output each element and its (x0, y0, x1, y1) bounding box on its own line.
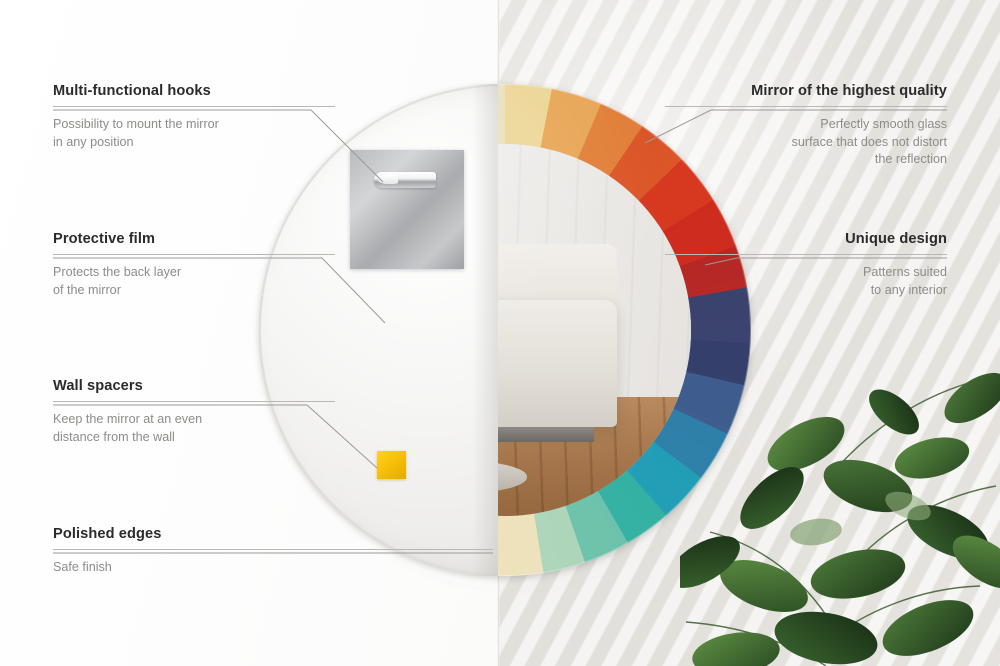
mirror-back-plate (259, 84, 498, 576)
callout-title: Protective film (53, 231, 335, 247)
callout-title: Polished edges (53, 526, 493, 542)
callout-description: Patterns suited to any interior (665, 264, 947, 299)
callout-title: Wall spacers (53, 378, 335, 394)
callout-description: Safe finish (53, 559, 493, 577)
callout-mirror-highest-quality: Mirror of the highest quality Perfectly … (665, 83, 947, 169)
callout-unique-design: Unique design Patterns suited to any int… (665, 231, 947, 299)
callout-rule (53, 549, 493, 550)
callout-title: Mirror of the highest quality (665, 83, 947, 99)
mounting-hook-plate (350, 150, 464, 269)
decorative-foliage (680, 336, 1000, 666)
callout-description: Possibility to mount the mirror in any p… (53, 116, 335, 151)
hook-bracket-icon (374, 172, 436, 188)
callout-multi-functional-hooks: Multi-functional hooks Possibility to mo… (53, 83, 335, 151)
mirror-back-shadow (472, 84, 498, 576)
callout-rule (665, 106, 947, 107)
callout-description: Keep the mirror at an even distance from… (53, 411, 335, 446)
callout-title: Multi-functional hooks (53, 83, 335, 99)
callout-title: Unique design (665, 231, 947, 247)
callout-description: Perfectly smooth glass surface that does… (665, 116, 947, 169)
callout-rule (665, 254, 947, 255)
callout-rule (53, 254, 335, 255)
infographic-canvas: Multi-functional hooks Possibility to mo… (0, 0, 1000, 666)
callout-rule (53, 106, 335, 107)
callout-wall-spacers: Wall spacers Keep the mirror at an even … (53, 378, 335, 446)
callout-description: Protects the back layer of the mirror (53, 264, 335, 299)
wall-spacer-pad (377, 451, 406, 479)
callout-rule (53, 401, 335, 402)
callout-protective-film: Protective film Protects the back layer … (53, 231, 335, 299)
leaf-cluster-icon (680, 336, 1000, 666)
callout-polished-edges: Polished edges Safe finish (53, 526, 493, 577)
